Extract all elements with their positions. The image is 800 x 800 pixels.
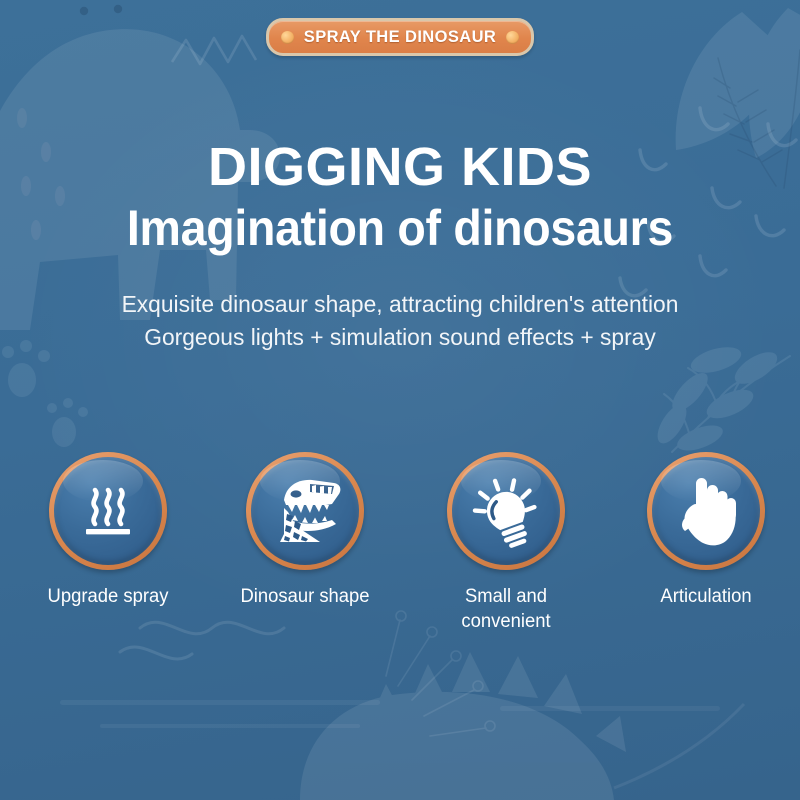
page-title: DIGGING KIDS <box>0 136 800 198</box>
spray-the-dinosaur-banner[interactable]: SPRAY THE DINOSAUR <box>266 18 534 56</box>
feature-item-dinosaur-shape[interactable]: Dinosaur shape <box>220 452 390 609</box>
open-hand-icon <box>673 474 739 548</box>
heading-block: DIGGING KIDS Imagination of dinosaurs <box>0 136 800 258</box>
feature-circle <box>246 452 364 570</box>
feature-list: Upgrade spray <box>0 452 800 682</box>
banner-container: SPRAY THE DINOSAUR <box>0 18 800 56</box>
banner-label: SPRAY THE DINOSAUR <box>304 28 496 47</box>
description-line-1: Exquisite dinosaur shape, attracting chi… <box>12 288 788 321</box>
feature-circle-inner <box>652 457 760 565</box>
dot-right-icon <box>506 31 519 44</box>
description-line-2: Gorgeous lights + simulation sound effec… <box>12 321 788 354</box>
feature-circle-inner <box>452 457 560 565</box>
feature-circle <box>49 452 167 570</box>
ground-texture <box>60 700 720 728</box>
feature-circle-inner <box>251 457 359 565</box>
description-block: Exquisite dinosaur shape, attracting chi… <box>12 288 788 354</box>
feature-circle <box>447 452 565 570</box>
page-subtitle: Imagination of dinosaurs <box>28 198 772 258</box>
dot-left-icon <box>281 31 294 44</box>
feature-label: Upgrade spray <box>26 584 191 609</box>
dinosaur-head-icon <box>266 474 344 548</box>
feature-label: Articulation <box>624 584 789 609</box>
feature-item-articulation[interactable]: Articulation <box>621 452 791 609</box>
product-poster: SPRAY THE DINOSAUR DIGGING KIDS Imaginat… <box>0 0 800 800</box>
feature-label: Small and convenient <box>424 584 589 634</box>
dinosaur-eye-dots <box>80 5 122 15</box>
feature-item-upgrade-spray[interactable]: Upgrade spray <box>23 452 193 609</box>
paw-print-decor <box>2 340 88 447</box>
feature-circle <box>647 452 765 570</box>
spray-steam-icon <box>73 476 143 546</box>
feature-item-small-and-convenient[interactable]: Small and convenient <box>421 452 591 634</box>
leafy-branch-silhouette <box>652 342 790 455</box>
feature-label: Dinosaur shape <box>223 584 388 609</box>
feature-circle-inner <box>54 457 162 565</box>
lightbulb-icon <box>468 473 544 549</box>
stegosaurus-tail-spikes <box>614 704 744 788</box>
